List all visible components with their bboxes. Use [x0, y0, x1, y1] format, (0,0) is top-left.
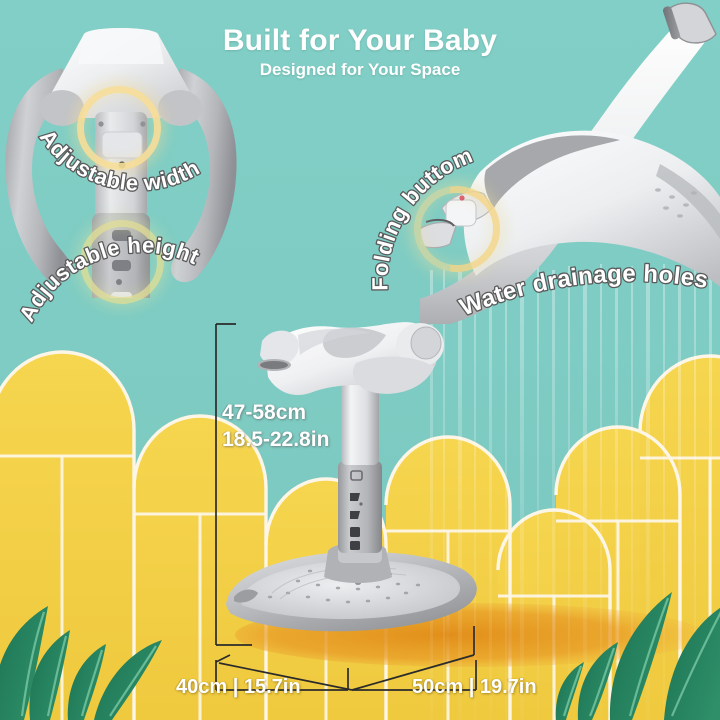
dimension-width: 50cm | 19.7in — [412, 676, 537, 699]
dimension-height-cm: 47-58cm — [222, 400, 329, 427]
page-title: Built for Your Baby — [0, 24, 720, 58]
dimension-depth: 40cm | 15.7in — [176, 676, 301, 699]
product-infographic: Built for Your Baby Designed for Your Sp… — [0, 0, 720, 720]
dimension-height: 47-58cm 18.5-22.8in — [222, 400, 329, 454]
dimension-height-in: 18.5-22.8in — [222, 427, 329, 454]
page-subtitle: Designed for Your Space — [0, 60, 720, 80]
dimension-bracket-icon — [0, 0, 720, 720]
